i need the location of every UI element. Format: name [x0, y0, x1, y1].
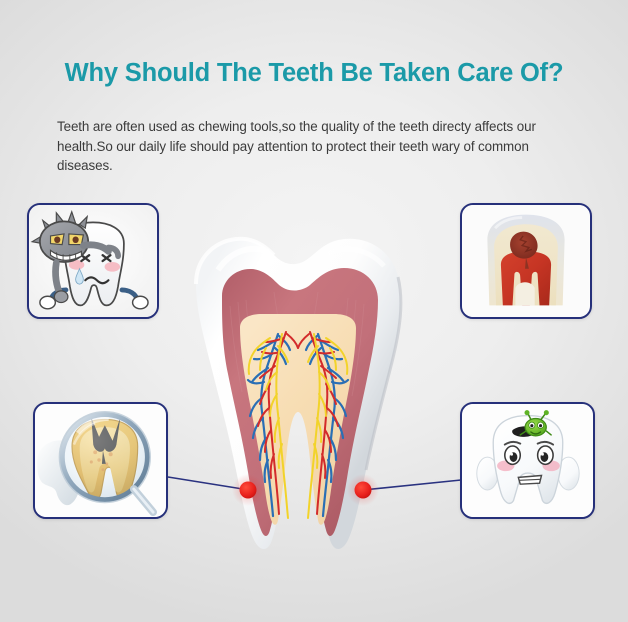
dental-care-infographic: Why Should The Teeth Be Taken Care Of? T… [0, 0, 628, 622]
left-root-marker[interactable] [232, 474, 264, 506]
magnifier-over-decayed-tooth-icon [35, 404, 166, 517]
panel-bottom-right[interactable] [460, 402, 595, 519]
panel-top-left[interactable] [27, 203, 159, 319]
page-description: Teeth are often used as chewing tools,so… [57, 117, 557, 176]
panel-top-right[interactable] [460, 203, 592, 319]
right-root-marker[interactable] [347, 474, 379, 506]
page-title: Why Should The Teeth Be Taken Care Of? [0, 59, 628, 88]
panel-bottom-left[interactable] [33, 402, 168, 519]
tooth-model [487, 215, 564, 306]
germ-attacking-sad-tooth-icon [29, 205, 157, 317]
molar-cross-section-diagram [178, 222, 426, 572]
tooth-cavity-cross-section-icon [462, 205, 590, 317]
worried-tooth-with-green-germ-icon [462, 404, 593, 517]
